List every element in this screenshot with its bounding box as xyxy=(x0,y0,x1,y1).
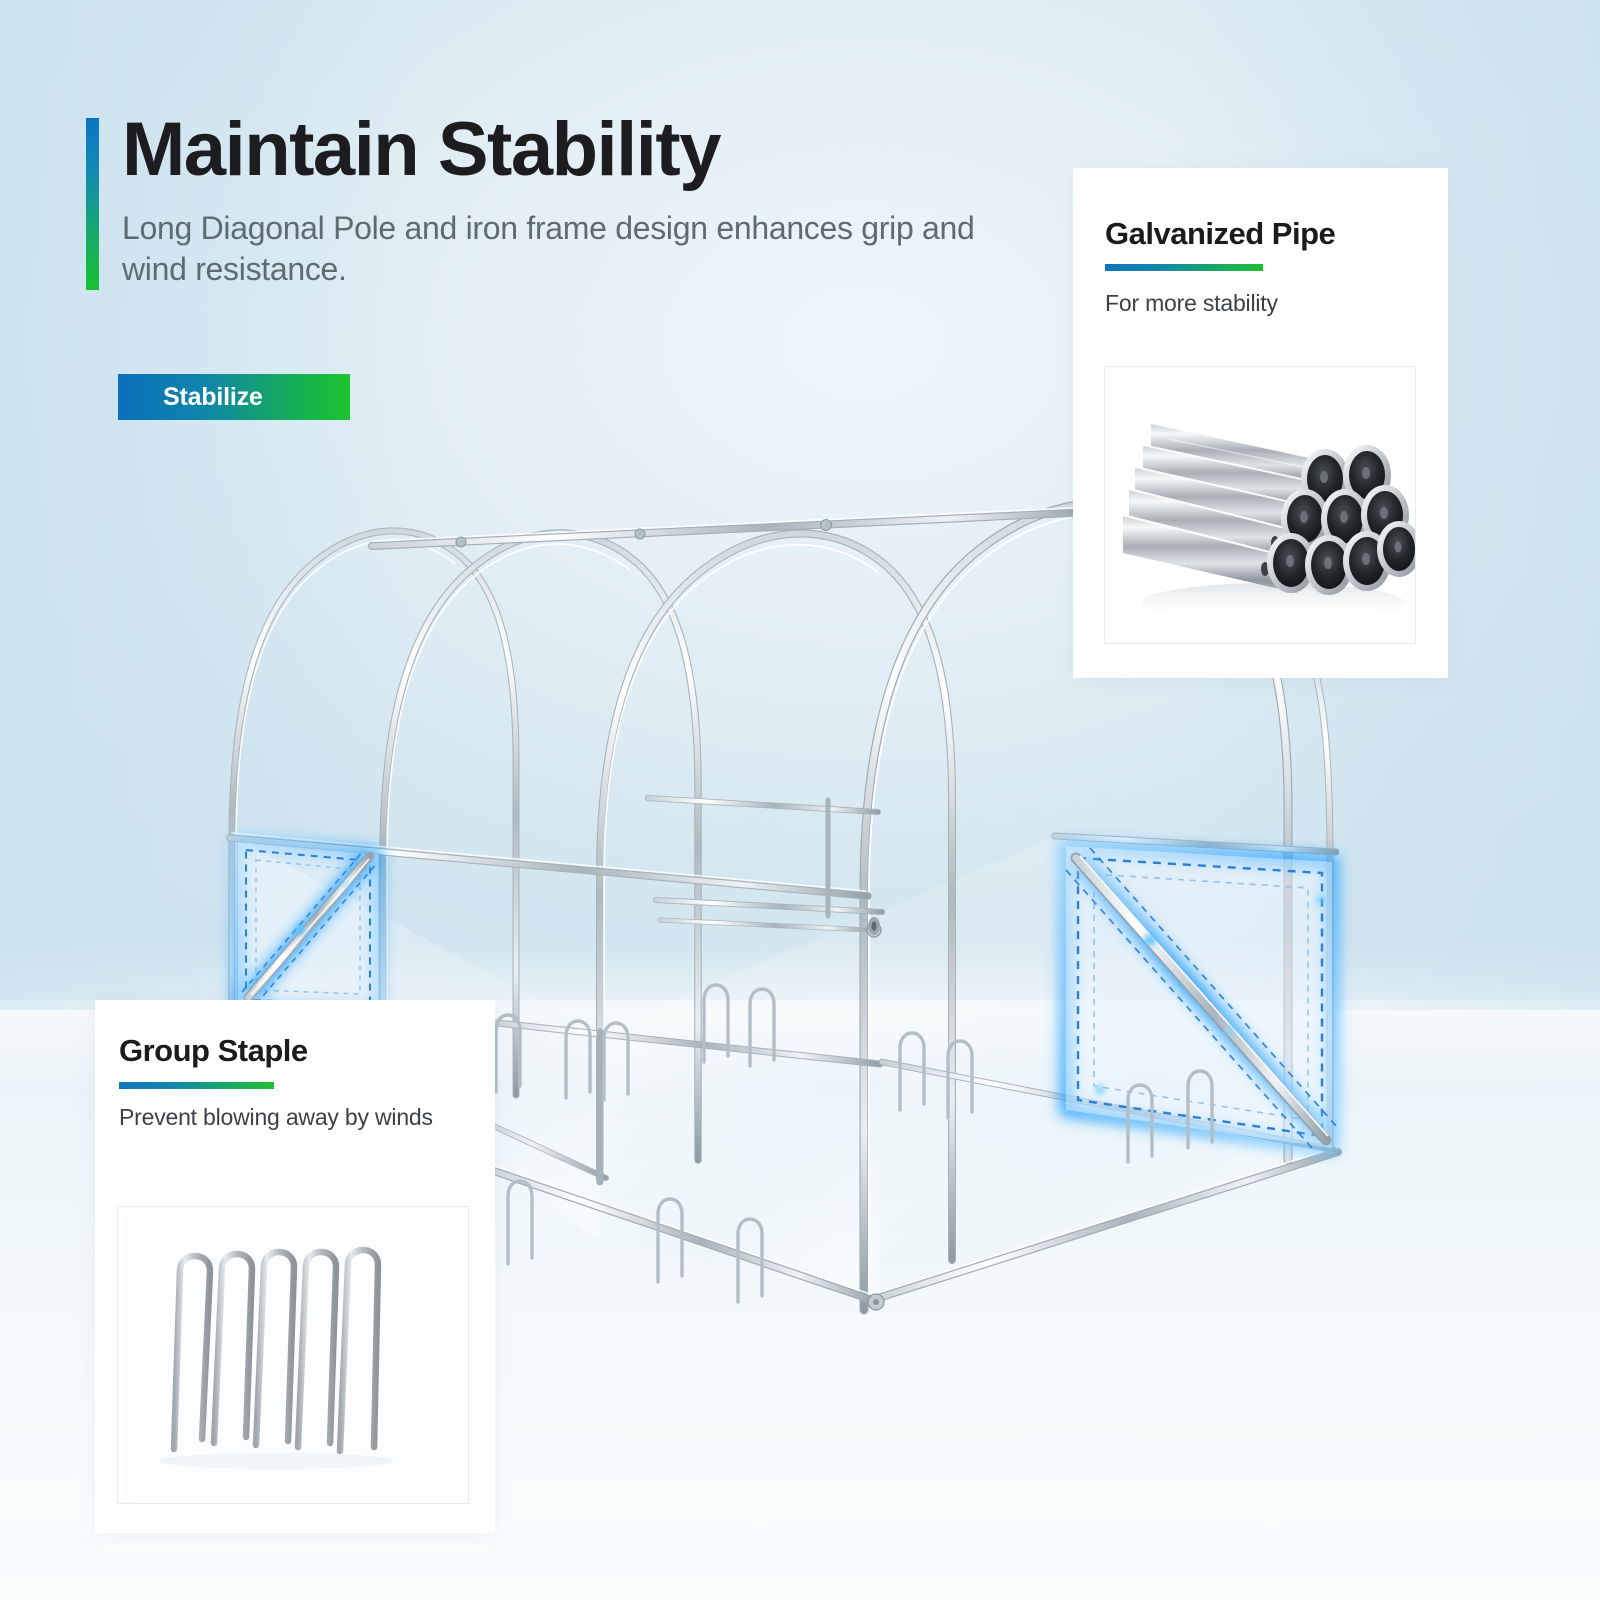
page-title: Maintain Stability xyxy=(122,112,986,188)
galvanized-pipe-bundle-photo xyxy=(1104,366,1416,644)
card-accent-rule xyxy=(1105,264,1263,271)
diagonal-pole-panel-right xyxy=(1066,846,1338,1148)
page-subtitle: Long Diagonal Pole and iron frame design… xyxy=(122,208,986,290)
card-subtitle-group-staple: Prevent blowing away by winds xyxy=(119,1104,433,1131)
stabilize-badge-label: Stabilize xyxy=(118,383,263,412)
card-accent-rule xyxy=(119,1082,274,1089)
feature-card-group-staple: Group Staple Prevent blowing away by win… xyxy=(95,1000,495,1533)
card-title-galvanized-pipe: Galvanized Pipe xyxy=(1105,216,1335,252)
card-title-group-staple: Group Staple xyxy=(119,1033,308,1069)
accent-bar xyxy=(86,118,99,290)
feature-card-galvanized-pipe: Galvanized Pipe For more stability xyxy=(1073,168,1448,678)
stabilize-badge: Stabilize xyxy=(118,374,350,420)
diagonal-pole-panel-left xyxy=(238,842,378,1012)
headline-block: Maintain Stability Long Diagonal Pole an… xyxy=(86,112,986,290)
frame-connector-hardware xyxy=(868,917,880,935)
card-subtitle-galvanized-pipe: For more stability xyxy=(1105,290,1278,317)
ground-staple-set-photo xyxy=(117,1206,469,1504)
